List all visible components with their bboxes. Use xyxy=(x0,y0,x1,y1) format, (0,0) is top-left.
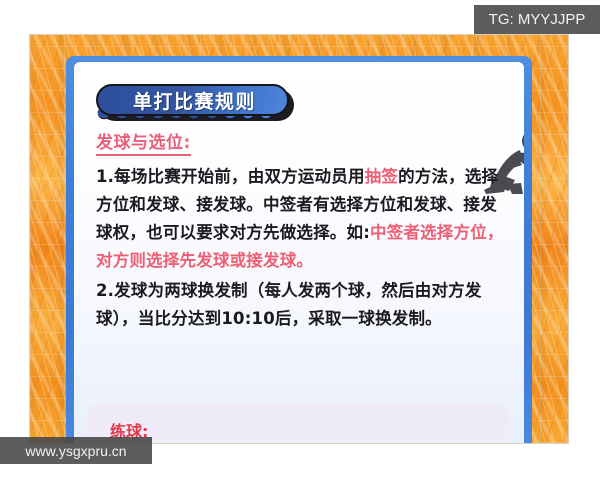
watermark-site-url: www.ysgxpru.cn xyxy=(0,437,152,464)
title-pill: 单打比赛规则 xyxy=(96,84,289,116)
rules-card: 单打比赛规则 xyxy=(74,62,524,443)
section-heading-serve: 发球与选位: xyxy=(96,128,191,156)
watermark-telegram: TG: MYYJJPP xyxy=(474,5,600,34)
rules-content: 发球与选位: 1.每场比赛开始前，由双方运动员用抽签的方法，选择方位和发球、接发… xyxy=(96,128,506,335)
blue-card-border: 单打比赛规则 xyxy=(66,56,532,443)
rule1-run-1-highlight: 抽签 xyxy=(365,167,398,186)
rule1-run-0: 1.每场比赛开始前，由双方运动员用 xyxy=(96,167,365,186)
rule-paragraph-2: 2.发球为两球换发制（每人发两个球，然后由对方发球），当比分达到10:10后，采… xyxy=(96,277,506,333)
wooden-outer-frame: 单打比赛规则 xyxy=(30,35,568,443)
rule2-run-0: 2.发球为两球换发制（每人发两个球，然后由对方发球），当比分达到10:10后，采… xyxy=(96,281,482,328)
title-banner: 单打比赛规则 xyxy=(96,84,294,120)
page-title: 单打比赛规则 xyxy=(129,87,256,114)
rule-paragraph-1: 1.每场比赛开始前，由双方运动员用抽签的方法，选择方位和发球、接发球。中签者有选… xyxy=(96,163,506,275)
